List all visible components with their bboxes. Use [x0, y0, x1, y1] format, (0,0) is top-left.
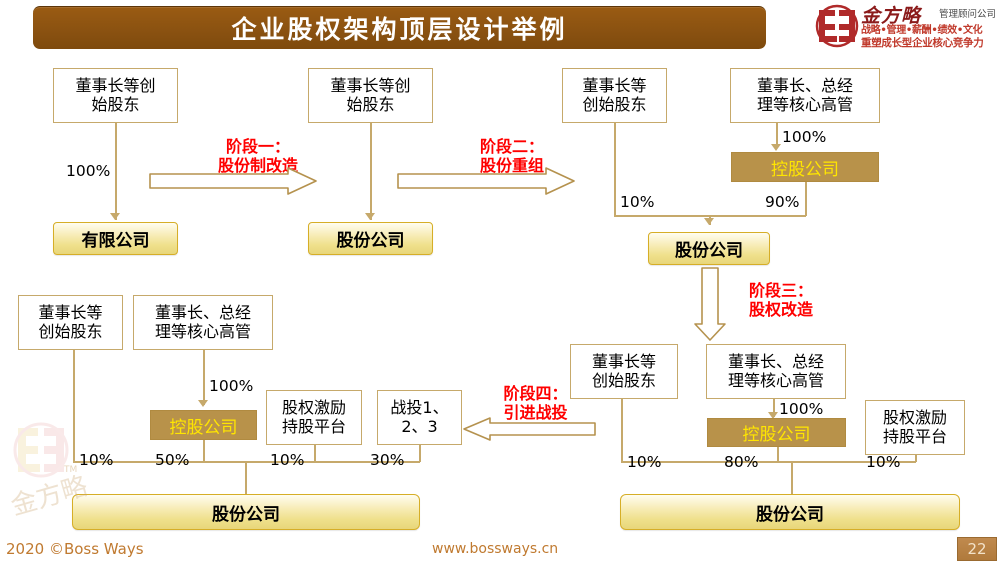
connector-line: [621, 399, 623, 462]
node-equity-platform-stage3[interactable]: 股权激励 持股平台: [865, 400, 965, 455]
percent-label: 90%: [765, 193, 799, 211]
page-number-badge: 22: [957, 537, 997, 561]
percent-label: 80%: [724, 453, 758, 471]
stage-arrow-1-icon: [148, 166, 318, 200]
connector-line: [419, 445, 421, 462]
node-founders-stage2-result[interactable]: 董事长等 创始股东: [562, 68, 667, 123]
connector-line: [805, 182, 807, 216]
connector-line: [203, 440, 205, 462]
footer-copyright: 2020 ©Boss Ways: [6, 540, 144, 558]
page-title: 企业股权架构顶层设计举例: [33, 7, 766, 49]
logo-tagline-company: 管理顾问公司: [939, 6, 996, 20]
node-holding-stage3[interactable]: 控股公司: [707, 418, 846, 447]
node-strategic-investors[interactable]: 战投1、 2、3: [377, 390, 462, 445]
percent-label: 10%: [270, 451, 304, 469]
logo-tagline-services: 战略•管理•薪酬•绩效•文化: [861, 21, 982, 36]
stage-arrow-3-icon: [693, 266, 727, 346]
connector-line: [614, 123, 616, 216]
connector-line: [203, 350, 205, 405]
node-holding-stage2[interactable]: 控股公司: [731, 152, 879, 182]
percent-label: 30%: [370, 451, 404, 469]
node-execs-stage2-result[interactable]: 董事长、总经 理等核心高管: [730, 68, 880, 123]
slide-canvas: 企业股权架构顶层设计举例 金方略 管理顾问公司 战略•管理•薪酬•绩效•文化 重…: [0, 0, 1000, 563]
node-founders-stage2[interactable]: 董事长等创 始股东: [308, 68, 433, 123]
footer-website[interactable]: www.bossways.cn: [432, 541, 558, 557]
logo-tagline-slogan: 重塑成长型企业核心竞争力: [861, 35, 983, 50]
percent-label: 100%: [66, 162, 110, 180]
node-founders-stage1[interactable]: 董事长等创 始股东: [53, 68, 178, 123]
arrowhead-icon: [704, 218, 714, 225]
arrowhead-icon: [771, 144, 781, 151]
stage-arrow-2-icon: [396, 166, 576, 200]
arrowhead-icon: [365, 213, 375, 220]
node-limited-company[interactable]: 有限公司: [53, 222, 178, 255]
connector-line: [370, 123, 372, 220]
percent-label: 100%: [209, 377, 253, 395]
logo-watermark-icon: TM 金方略: [6, 420, 111, 530]
arrowhead-icon: [198, 400, 208, 407]
stage-label-3: 阶段三： 股权改造: [716, 282, 846, 320]
node-founders-stage4-result[interactable]: 董事长等 创始股东: [18, 295, 123, 350]
connector-line: [314, 445, 316, 462]
node-joint-stock-stage2-result[interactable]: 股份公司: [648, 232, 770, 265]
percent-label: 10%: [866, 453, 900, 471]
connector-line: [115, 123, 117, 220]
percent-label: 10%: [627, 453, 661, 471]
slide-title-bar: 企业股权架构顶层设计举例: [33, 6, 766, 49]
logo-seal-icon: [815, 4, 859, 48]
connector-line: [777, 447, 779, 462]
percent-label: 10%: [620, 193, 654, 211]
node-joint-stock-stage2[interactable]: 股份公司: [308, 222, 433, 255]
svg-text:金方略: 金方略: [8, 471, 91, 521]
node-joint-stock-bottom-right[interactable]: 股份公司: [620, 494, 960, 530]
node-equity-platform-stage4[interactable]: 股权激励 持股平台: [266, 390, 362, 445]
stage-arrow-4-icon: [462, 416, 597, 446]
connector-line: [791, 461, 793, 494]
node-joint-stock-bottom-left[interactable]: 股份公司: [72, 494, 420, 530]
node-holding-stage4[interactable]: 控股公司: [150, 410, 257, 440]
arrowhead-icon: [110, 213, 120, 220]
percent-label: 50%: [155, 451, 189, 469]
node-execs-stage3-result[interactable]: 董事长、总经 理等核心高管: [706, 344, 846, 399]
node-execs-stage4-result[interactable]: 董事长、总经 理等核心高管: [133, 295, 273, 350]
connector-line: [245, 461, 247, 494]
logo-text-block: 金方略 管理顾问公司 战略•管理•薪酬•绩效•文化 重塑成长型企业核心竞争力: [861, 2, 1000, 52]
company-logo: 金方略 管理顾问公司 战略•管理•薪酬•绩效•文化 重塑成长型企业核心竞争力: [815, 2, 1000, 52]
percent-label: 100%: [779, 400, 823, 418]
percent-label: 100%: [782, 128, 826, 146]
